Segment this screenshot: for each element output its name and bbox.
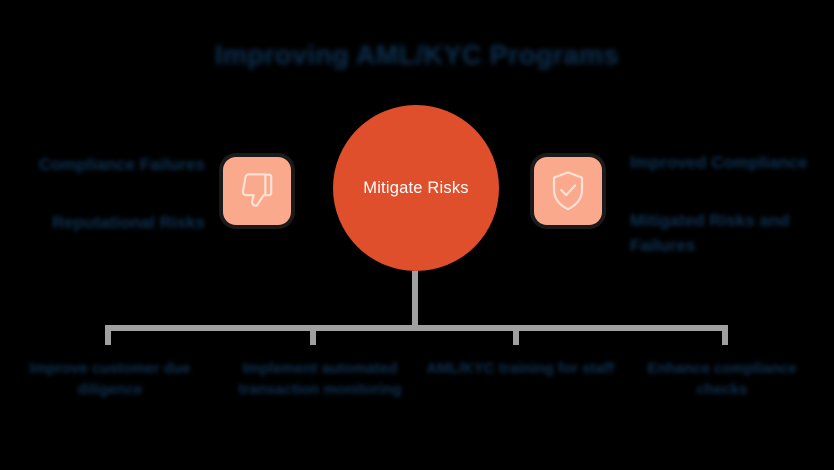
bottom-item-1: Improve customer due diligence — [10, 358, 210, 400]
connector-drop-3 — [513, 331, 519, 345]
side-label-compliance-failures: Compliance Failures — [30, 152, 205, 177]
center-node-mitigate-risks: Mitigate Risks — [333, 105, 499, 271]
shield-check-icon-tile — [534, 157, 602, 225]
connector-drop-4 — [722, 331, 728, 345]
thumbs-down-icon-tile — [223, 157, 291, 225]
connector-drop-2 — [310, 331, 316, 345]
connector-horizontal-bar — [105, 325, 728, 331]
connector-drop-1 — [105, 331, 111, 345]
center-node-label: Mitigate Risks — [363, 179, 469, 198]
bottom-item-3: AML/KYC training for staff — [424, 358, 616, 379]
page-title: Improving AML/KYC Programs — [0, 40, 834, 71]
side-label-improved-compliance: Improved Compliance — [630, 150, 815, 175]
diagram-canvas: Improving AML/KYC Programs Compliance Fa… — [0, 0, 834, 470]
thumbs-down-icon — [237, 171, 277, 211]
bottom-item-2: Implement automated transaction monitori… — [222, 358, 418, 400]
shield-check-icon — [548, 169, 588, 213]
side-label-mitigated-risks: Mitigated Risks and Failures — [630, 208, 815, 258]
side-label-reputational-risks: Reputational Risks — [30, 210, 205, 235]
bottom-item-4: Enhance compliance checks — [622, 358, 822, 400]
connector-stem — [412, 271, 418, 328]
